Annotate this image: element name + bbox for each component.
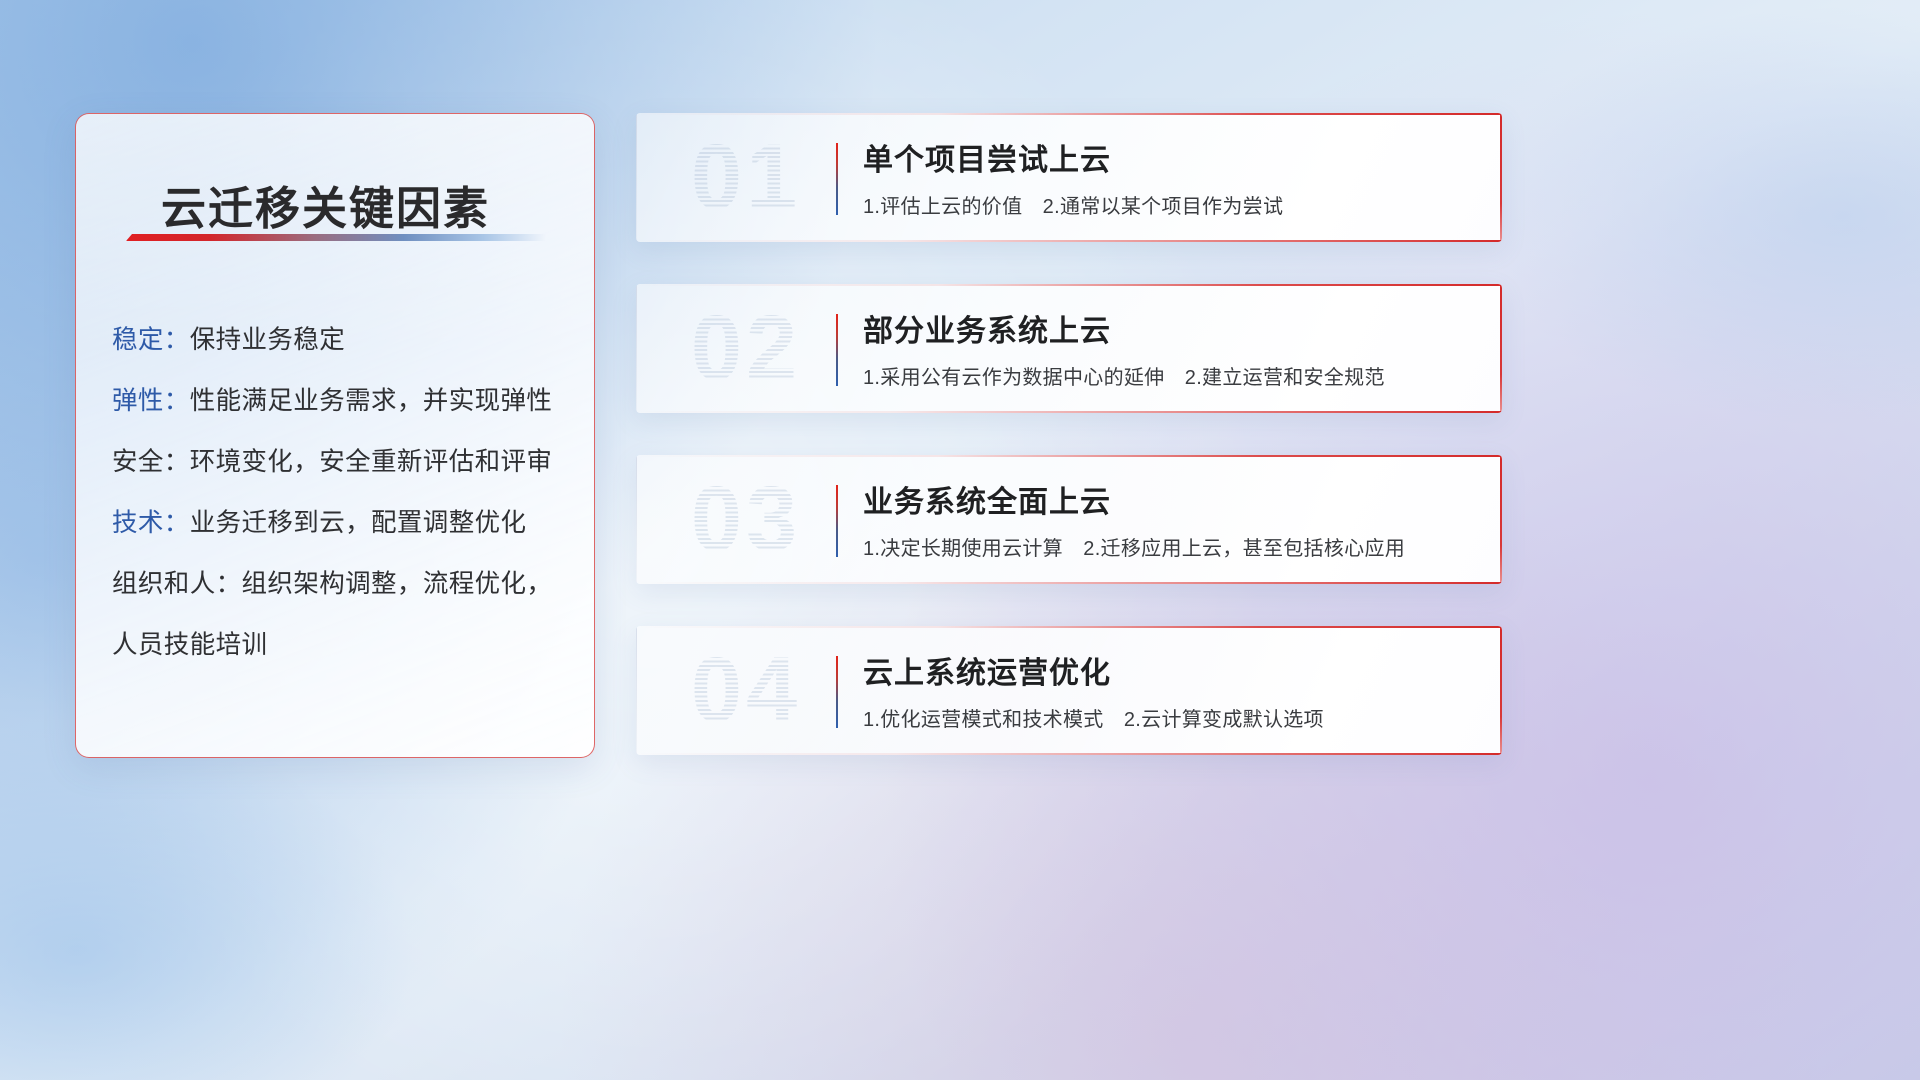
card-top-edge bbox=[636, 626, 1502, 628]
list-item-text: 保持业务稳定 bbox=[190, 326, 345, 354]
step-description: 1.决定长期使用云计算 2.迁移应用上云，甚至包括核心应用 bbox=[863, 532, 1405, 561]
card-left-edge bbox=[636, 455, 637, 584]
card-right-edge bbox=[1500, 455, 1502, 584]
step-card-02[interactable]: 02 部分业务系统上云 1.采用公有云作为数据中心的延伸 2.建立运营和安全规范 bbox=[636, 284, 1502, 413]
step-title: 业务系统全面上云 bbox=[863, 477, 1111, 521]
list-item: 稳定：保持业务稳定 bbox=[112, 310, 570, 371]
step-description: 1.优化运营模式和技术模式 2.云计算变成默认选项 bbox=[863, 703, 1324, 732]
step-card-01[interactable]: 01 单个项目尝试上云 1.评估上云的价值 2.通常以某个项目作为尝试 bbox=[636, 113, 1502, 242]
list-item: 安全：环境变化，安全重新评估和评审 bbox=[112, 432, 570, 493]
list-item-text: 人员技能培训 bbox=[112, 631, 267, 659]
list-item: 组织和人：组织架构调整，流程优化， bbox=[112, 554, 570, 615]
step-title: 单个项目尝试上云 bbox=[863, 135, 1111, 179]
step-description: 1.采用公有云作为数据中心的延伸 2.建立运营和安全规范 bbox=[863, 361, 1385, 390]
card-top-edge bbox=[636, 455, 1502, 457]
list-item: 技术：业务迁移到云，配置调整优化 bbox=[112, 493, 570, 554]
card-left-edge bbox=[636, 113, 637, 242]
step-title: 部分业务系统上云 bbox=[863, 306, 1111, 350]
list-item-text: 业务迁移到云，配置调整优化 bbox=[190, 509, 527, 537]
title-underline-rule bbox=[126, 234, 546, 241]
card-bottom-edge bbox=[636, 582, 1502, 584]
list-item: 人员技能培训 bbox=[112, 615, 570, 676]
card-bottom-edge bbox=[636, 411, 1502, 413]
card-right-edge bbox=[1500, 113, 1502, 242]
migration-steps-column: 01 单个项目尝试上云 1.评估上云的价值 2.通常以某个项目作为尝试 02 部… bbox=[636, 113, 1502, 797]
card-right-edge bbox=[1500, 284, 1502, 413]
step-number: 04 bbox=[662, 634, 830, 746]
step-description: 1.评估上云的价值 2.通常以某个项目作为尝试 bbox=[863, 190, 1283, 219]
card-bottom-edge bbox=[636, 240, 1502, 242]
card-right-edge bbox=[1500, 626, 1502, 755]
step-number: 02 bbox=[662, 292, 830, 404]
step-card-03[interactable]: 03 业务系统全面上云 1.决定长期使用云计算 2.迁移应用上云，甚至包括核心应… bbox=[636, 455, 1502, 584]
list-item: 弹性：性能满足业务需求，并实现弹性 bbox=[112, 371, 570, 432]
card-top-edge bbox=[636, 284, 1502, 286]
list-item-label: 技术： bbox=[112, 509, 190, 537]
list-item-label: 组织和人： bbox=[112, 570, 242, 598]
step-divider-bar bbox=[836, 656, 838, 728]
step-divider-bar bbox=[836, 143, 838, 215]
list-item-text: 环境变化，安全重新评估和评审 bbox=[190, 448, 553, 476]
card-top-edge bbox=[636, 113, 1502, 115]
card-bottom-edge bbox=[636, 753, 1502, 755]
step-number: 01 bbox=[662, 121, 830, 233]
list-item-text: 组织架构调整，流程优化， bbox=[242, 570, 553, 598]
card-left-edge bbox=[636, 284, 637, 413]
key-factors-card: 云迁移关键因素 稳定：保持业务稳定 弹性：性能满足业务需求，并实现弹性 安全：环… bbox=[75, 113, 595, 758]
list-item-text: 性能满足业务需求，并实现弹性 bbox=[190, 387, 553, 415]
card-left-edge bbox=[636, 626, 637, 755]
list-item-label: 安全： bbox=[112, 448, 190, 476]
step-divider-bar bbox=[836, 485, 838, 557]
step-card-04[interactable]: 04 云上系统运营优化 1.优化运营模式和技术模式 2.云计算变成默认选项 bbox=[636, 626, 1502, 755]
step-divider-bar bbox=[836, 314, 838, 386]
list-item-label: 稳定： bbox=[112, 326, 190, 354]
page-title: 云迁移关键因素 bbox=[161, 172, 490, 237]
list-item-label: 弹性： bbox=[112, 387, 190, 415]
step-number: 03 bbox=[662, 463, 830, 575]
step-title: 云上系统运营优化 bbox=[863, 648, 1111, 692]
key-factors-list: 稳定：保持业务稳定 弹性：性能满足业务需求，并实现弹性 安全：环境变化，安全重新… bbox=[112, 310, 570, 676]
